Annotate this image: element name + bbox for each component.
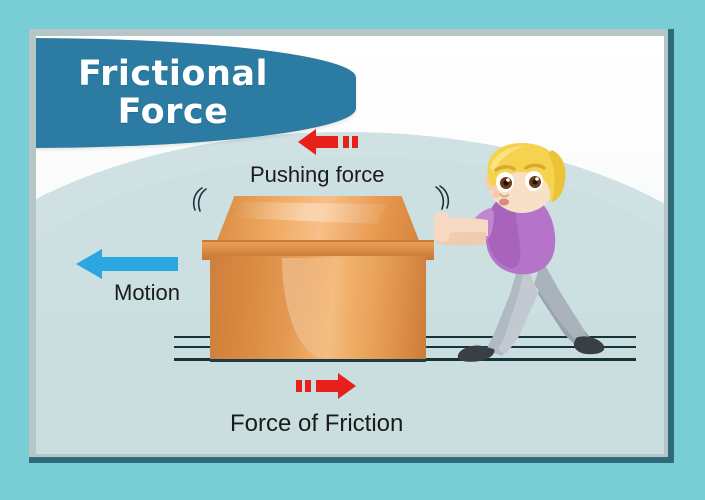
motion-label: Motion <box>114 280 180 306</box>
red-left-arrow-icon <box>298 128 360 156</box>
force-of-friction-label: Force of Friction <box>230 410 403 438</box>
red-right-arrow-icon <box>294 372 356 400</box>
title-line-2: Force <box>118 95 229 130</box>
crate-box <box>202 196 434 359</box>
poster-scene: Pushing force Motion Force of Friction F… <box>36 36 664 454</box>
vibration-lines-left-icon <box>186 186 208 212</box>
pushing-force-label: Pushing force <box>250 162 385 188</box>
title-line-1: Frictional <box>78 57 268 92</box>
poster-canvas: Pushing force Motion Force of Friction F… <box>0 0 705 500</box>
blue-left-arrow-icon <box>76 248 178 280</box>
boy-pushing-icon <box>434 142 624 362</box>
